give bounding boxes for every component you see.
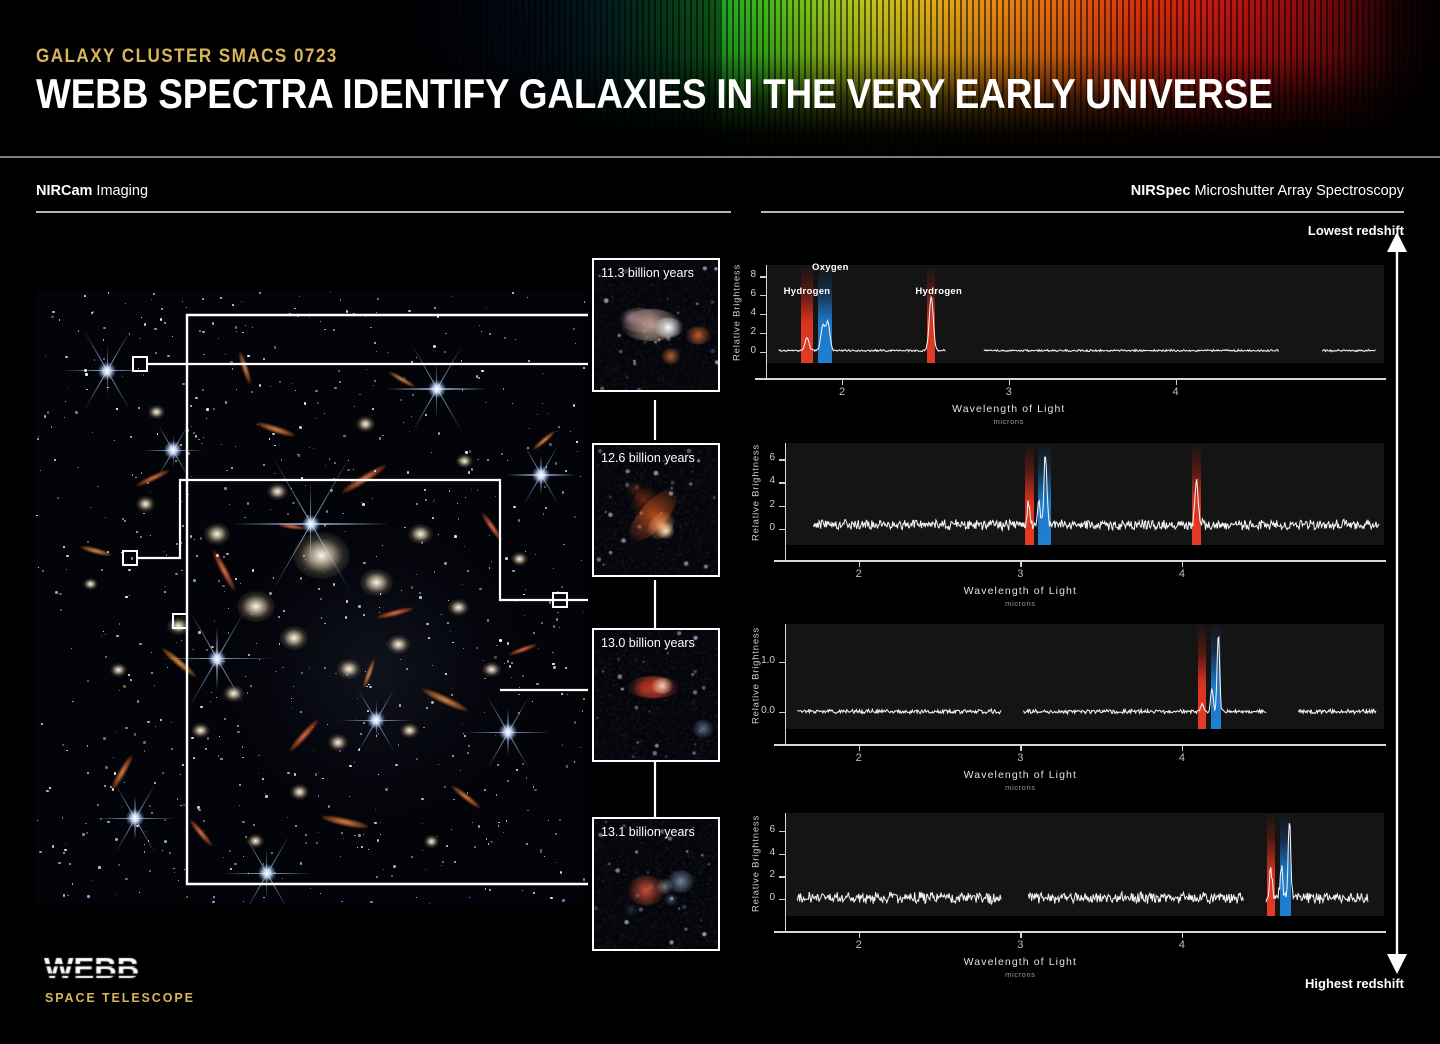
webb-wordmark-canvas bbox=[44, 955, 192, 985]
x-tick-label-4-2: 3 bbox=[1004, 939, 1036, 951]
x-axis-title-4: Wavelength of Light bbox=[930, 956, 1110, 968]
plot-area-4 bbox=[786, 813, 1384, 916]
x-tick-4-2 bbox=[1020, 932, 1021, 938]
x-axis-units-4: microns bbox=[930, 970, 1110, 979]
y-axis-title-4: Relative Brightness bbox=[751, 798, 762, 928]
trace-segment-3 bbox=[1266, 823, 1368, 903]
y-tick-4-2 bbox=[779, 876, 786, 877]
thumbnail-label-1: 11.3 billion years bbox=[601, 266, 694, 280]
arrow-down-icon bbox=[1387, 954, 1407, 974]
redshift-axis-arrow bbox=[1382, 232, 1412, 974]
webb-logo: SPACE TELESCOPE bbox=[44, 955, 244, 1017]
webb-wordmark bbox=[44, 955, 192, 985]
x-axis-line-4 bbox=[774, 931, 1386, 933]
trace-segment-2 bbox=[1028, 892, 1243, 904]
spectrum-plot-4: 0246234Relative BrightnessWavelength of … bbox=[0, 0, 1440, 1044]
thumbnail-label-2: 12.6 billion years bbox=[601, 451, 695, 465]
x-tick-4-3 bbox=[1182, 932, 1183, 938]
highest-redshift-label: Highest redshift bbox=[1305, 976, 1404, 991]
y-tick-4-3 bbox=[779, 854, 786, 855]
thumbnail-label-4: 13.1 billion years bbox=[601, 825, 695, 839]
lowest-redshift-label: Lowest redshift bbox=[1308, 223, 1404, 238]
y-tick-4-1 bbox=[779, 899, 786, 900]
trace-segment-1 bbox=[797, 892, 1001, 904]
x-tick-4-1 bbox=[859, 932, 860, 938]
infographic-root: GALAXY CLUSTER SMACS 0723 WEBB SPECTRA I… bbox=[0, 0, 1440, 1044]
thumbnail-label-3: 13.0 billion years bbox=[601, 636, 695, 650]
y-tick-4-4 bbox=[779, 831, 786, 832]
webb-logo-subtitle: SPACE TELESCOPE bbox=[45, 991, 195, 1005]
x-tick-label-4-1: 2 bbox=[843, 939, 875, 951]
spectrum-trace-4 bbox=[786, 813, 1384, 916]
x-tick-label-4-3: 4 bbox=[1166, 939, 1198, 951]
